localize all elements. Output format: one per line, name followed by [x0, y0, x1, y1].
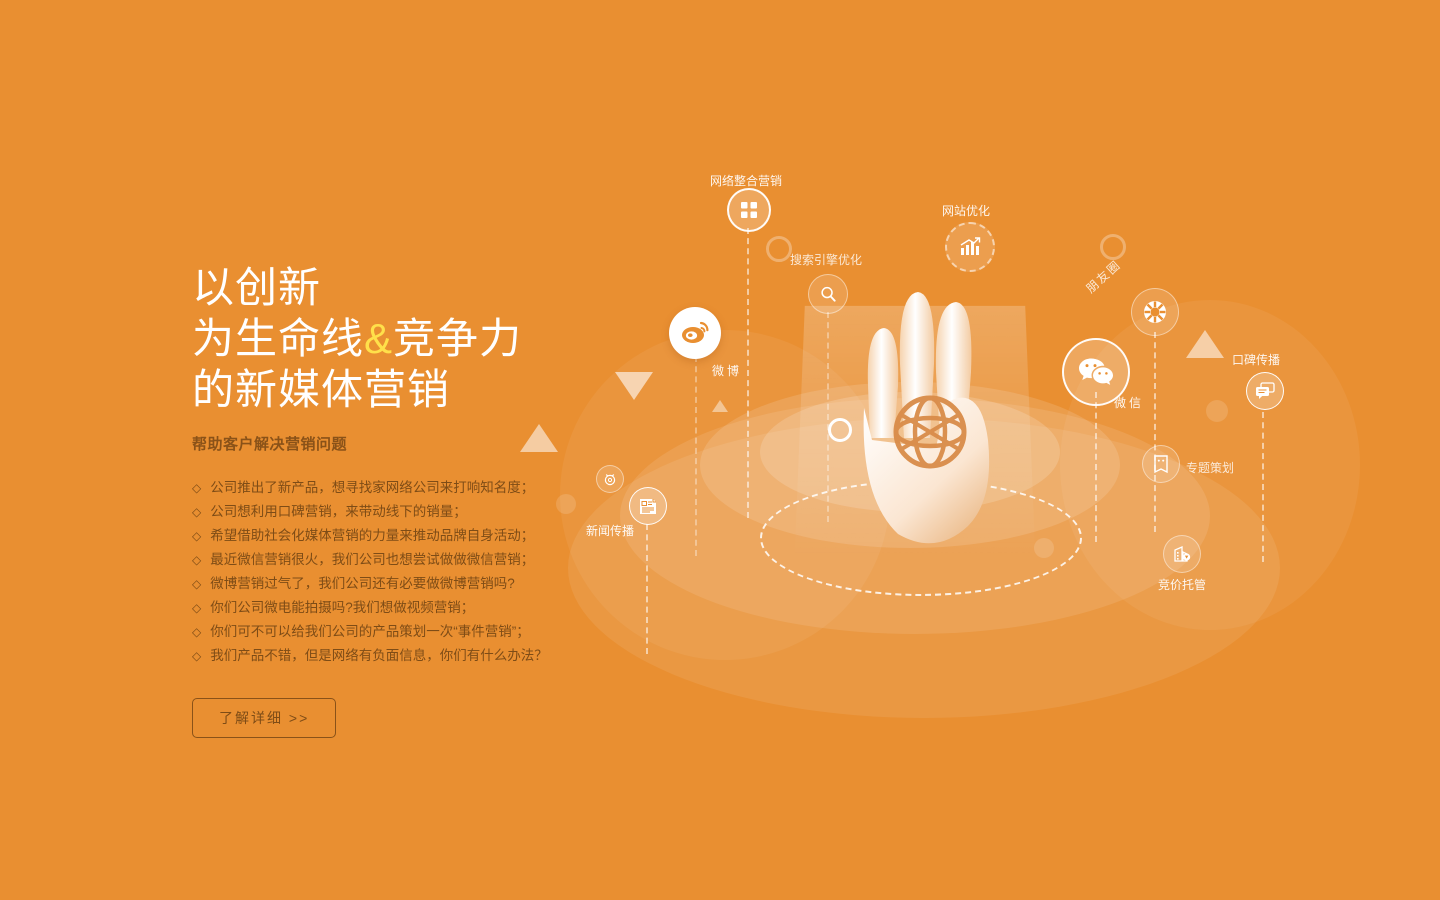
- list-item-label: 我们产品不错，但是网络有负面信息，你们有什么办法？: [210, 644, 548, 668]
- hero-copy: 以创新 为生命线&竞争力 的新媒体营销 帮助客户解决营销问题 ◇公司推出了新产品…: [192, 262, 612, 738]
- decor-triangle-up-right: [1186, 330, 1224, 358]
- node-label-integrated-marketing: 网络整合营销: [710, 172, 782, 189]
- connector-line-moments: [1154, 332, 1156, 532]
- connector-line-seo: [827, 312, 829, 522]
- book-icon[interactable]: [1142, 445, 1180, 483]
- diamond-bullet-icon: ◇: [192, 476, 201, 500]
- bid-chart-icon[interactable]: [1163, 535, 1201, 573]
- decor-dot-2: [1206, 400, 1228, 422]
- list-item-label: 你们公司微电能拍摄吗?我们想做视频营销；: [210, 596, 474, 620]
- list-item-label: 公司推出了新产品，想寻找家网络公司来打响知名度；: [210, 476, 534, 500]
- list-item: ◇公司想利用口碑营销，来带动线下的销量；: [192, 500, 612, 524]
- chat-bubbles-icon[interactable]: [1246, 372, 1284, 410]
- node-label-news-spread: 新闻传播: [586, 522, 634, 539]
- headline-ampersand: &: [364, 315, 393, 362]
- node-label-weibo: 微博: [712, 362, 742, 379]
- node-label-word-of-mouth: 口碑传播: [1232, 351, 1280, 368]
- bar-chart-arrow-icon[interactable]: [945, 222, 995, 272]
- diamond-bullet-icon: ◇: [192, 524, 201, 548]
- list-item-label: 希望借助社会化媒体营销的力量来推动品牌自身活动；: [210, 524, 534, 548]
- newspaper-icon[interactable]: [629, 487, 667, 525]
- list-item-label: 微博营销过气了，我们公司还有必要做微博营销吗?: [210, 572, 515, 596]
- list-item: ◇微博营销过气了，我们公司还有必要做微博营销吗?: [192, 572, 612, 596]
- hero-subhead: 帮助客户解决营销问题: [192, 433, 612, 454]
- node-label-moments: 朋友圈: [1082, 256, 1125, 297]
- connector-line-wom: [1262, 412, 1264, 562]
- connector-line-news: [646, 524, 648, 654]
- diamond-bullet-icon: ◇: [192, 620, 201, 644]
- list-item-label: 公司想利用口碑营销，来带动线下的销量；: [210, 500, 467, 524]
- hand-holding-globe-illustration: [838, 268, 1028, 558]
- list-item: ◇公司推出了新产品，想寻找家网络公司来打响知名度；: [192, 476, 612, 500]
- node-label-bid-hosting: 竞价托管: [1158, 576, 1206, 593]
- connector-line-wechat: [1095, 392, 1097, 542]
- headline-line-2b: 竞争力: [393, 315, 522, 362]
- hero-banner: 以创新 为生命线&竞争力 的新媒体营销 帮助客户解决营销问题 ◇公司推出了新产品…: [0, 0, 1440, 900]
- decor-triangle-small: [712, 400, 728, 412]
- node-label-seo: 搜索引擎优化: [790, 251, 862, 268]
- decor-dot-3: [1034, 538, 1054, 558]
- list-item-label: 最近微信营销很火，我们公司也想尝试做做微信营销；: [210, 548, 534, 572]
- pain-point-list: ◇公司推出了新产品，想寻找家网络公司来打响知名度； ◇公司想利用口碑营销，来带动…: [192, 476, 612, 668]
- diamond-bullet-icon: ◇: [192, 644, 201, 668]
- list-item: ◇希望借助社会化媒体营销的力量来推动品牌自身活动；: [192, 524, 612, 548]
- node-label-site-optimization: 网站优化: [942, 202, 990, 219]
- list-item: ◇你们可不可以给我们公司的产品策划一次“事件营销”；: [192, 620, 612, 644]
- page-title: 以创新 为生命线&竞争力 的新媒体营销: [192, 262, 612, 415]
- connector-line-weibo: [695, 356, 697, 556]
- list-item: ◇我们产品不错，但是网络有负面信息，你们有什么办法？: [192, 644, 612, 668]
- node-label-wechat: 微信: [1114, 394, 1144, 411]
- weibo-icon[interactable]: [669, 307, 721, 359]
- diamond-bullet-icon: ◇: [192, 596, 201, 620]
- headline-line-3: 的新媒体营销: [192, 366, 450, 413]
- diamond-bullet-icon: ◇: [192, 500, 201, 524]
- list-item: ◇你们公司微电能拍摄吗?我们想做视频营销；: [192, 596, 612, 620]
- node-label-topic-planning: 专题策划: [1186, 459, 1234, 476]
- learn-more-button[interactable]: 了解详细 >>: [192, 698, 336, 738]
- alarm-clock-icon[interactable]: [596, 465, 624, 493]
- headline-line-1: 以创新: [192, 264, 321, 311]
- camera-aperture-icon[interactable]: [1131, 288, 1179, 336]
- headline-line-2a: 为生命线: [192, 315, 364, 362]
- diamond-bullet-icon: ◇: [192, 548, 201, 572]
- decor-ring-1: [766, 236, 792, 262]
- diamond-bullet-icon: ◇: [192, 572, 201, 596]
- connector-line-grid: [747, 228, 749, 518]
- list-item-label: 你们可不可以给我们公司的产品策划一次“事件营销”；: [210, 620, 530, 644]
- grid-icon[interactable]: [727, 188, 771, 232]
- list-item: ◇最近微信营销很火，我们公司也想尝试做做微信营销；: [192, 548, 612, 572]
- decor-triangle-down: [615, 372, 653, 400]
